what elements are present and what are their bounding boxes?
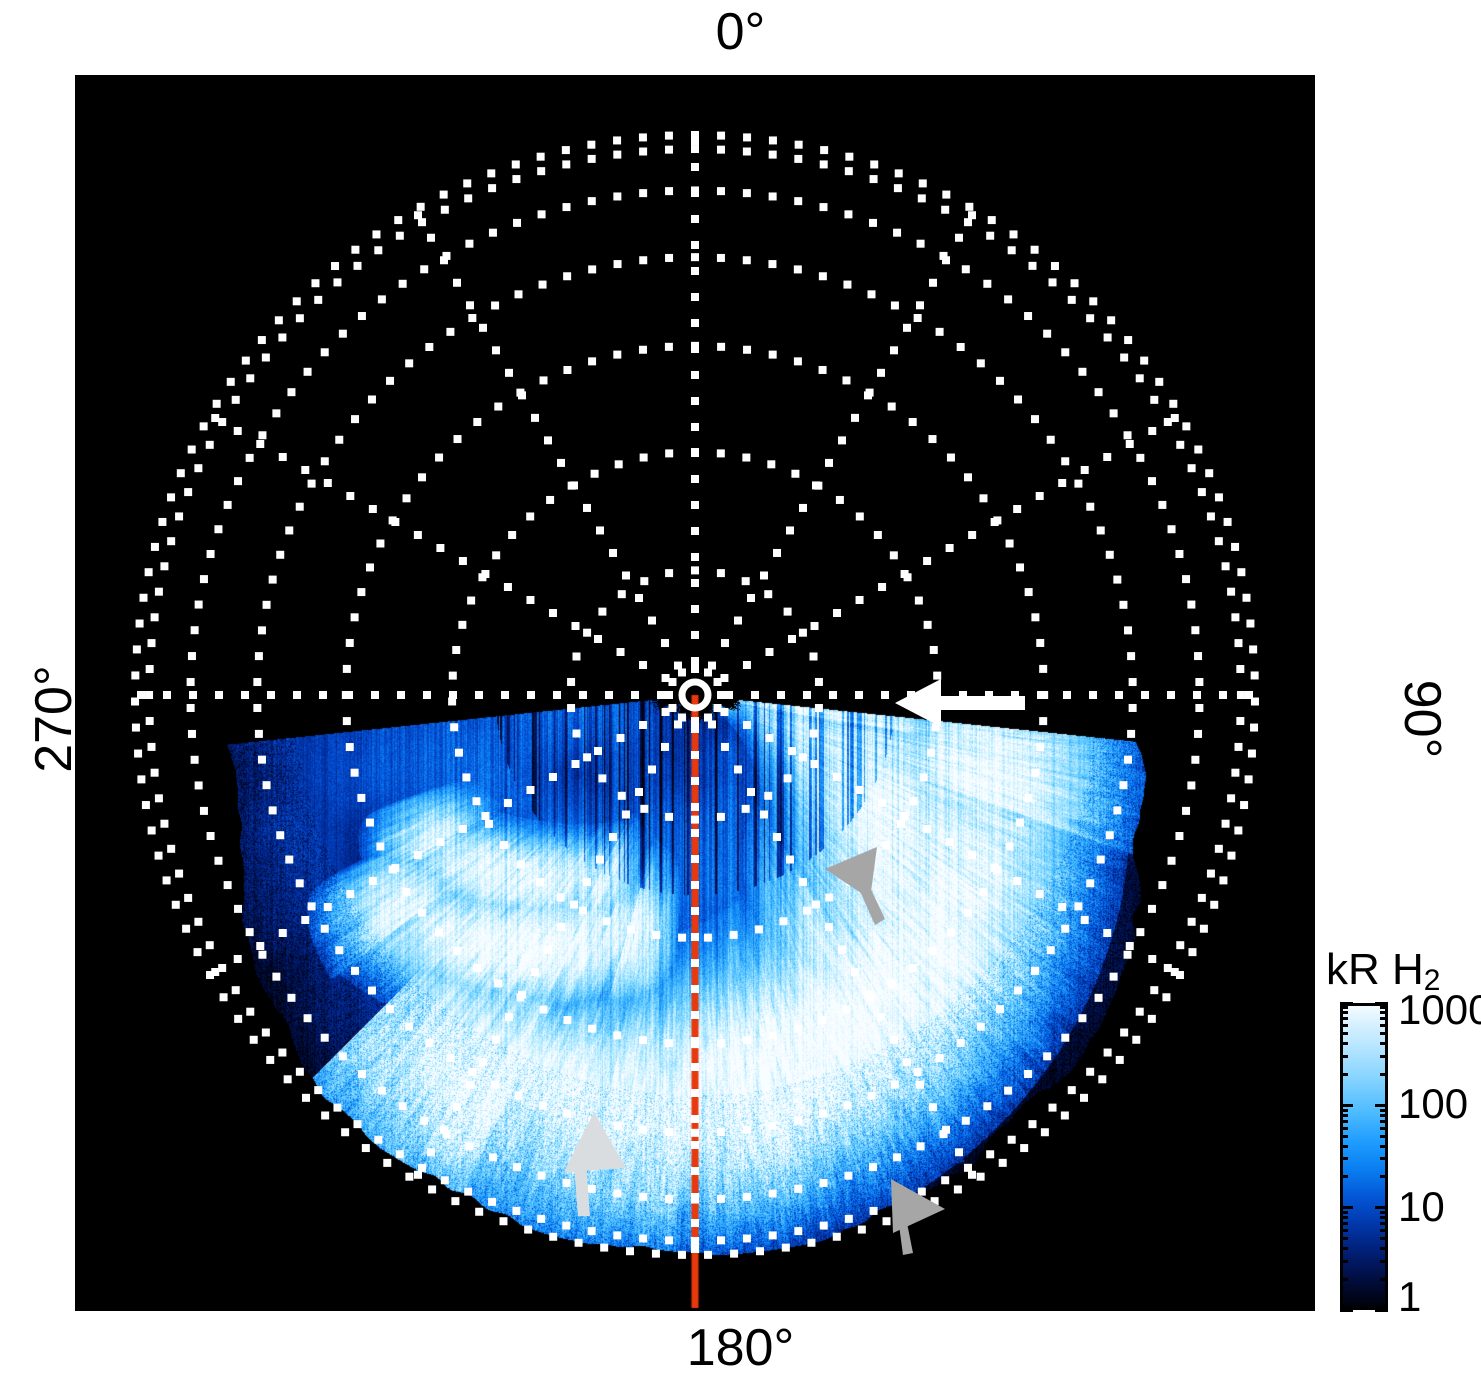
grid-dot <box>819 1110 827 1118</box>
grid-dot <box>188 446 196 454</box>
grid-dot <box>526 786 534 794</box>
grid-dot <box>544 946 552 954</box>
grid-dot <box>799 504 807 512</box>
grid-dot <box>639 1036 647 1044</box>
grid-dot <box>466 301 474 309</box>
grid-dot <box>468 314 476 322</box>
grid-dot <box>275 316 283 324</box>
grid-dot <box>391 864 399 872</box>
axis-label-0: 0° <box>0 6 1481 58</box>
grid-dot <box>366 819 374 827</box>
colorbar-minor-tick <box>1340 1127 1348 1130</box>
grid-dot <box>1031 769 1039 777</box>
grid-dot <box>964 473 972 481</box>
grid-dot <box>446 1054 454 1062</box>
grid-dot <box>311 279 319 287</box>
grid-dot <box>1074 480 1082 488</box>
grid-dot <box>1016 819 1024 827</box>
grid-dot <box>308 480 316 488</box>
grid-dot <box>505 1013 513 1021</box>
grid-dot <box>704 668 712 676</box>
grid-dot <box>1198 894 1206 902</box>
grid-dot <box>665 1128 673 1136</box>
grid-dot <box>890 1036 898 1044</box>
grid-dot <box>1037 691 1045 699</box>
grid-dot <box>187 704 195 712</box>
grid-dot <box>803 907 811 915</box>
grid-dot <box>1115 691 1123 699</box>
grid-dot <box>983 1102 991 1110</box>
grid-dot <box>453 1103 461 1111</box>
grid-dot <box>489 229 497 237</box>
grid-dot <box>296 503 304 511</box>
grid-dot <box>1251 671 1259 679</box>
grid-dot <box>1008 1136 1016 1144</box>
grid-dot <box>769 151 777 159</box>
grid-dot <box>946 838 954 846</box>
grid-dot <box>588 155 596 163</box>
grid-dot <box>1086 879 1094 887</box>
grid-dot <box>425 1039 433 1047</box>
grid-dot <box>227 378 235 386</box>
grid-dot <box>1025 794 1033 802</box>
grid-dot <box>488 1198 496 1206</box>
grid-dot <box>598 608 606 616</box>
grid-dot <box>691 1237 699 1245</box>
grid-dot <box>851 414 859 422</box>
grid-dot <box>1187 601 1195 609</box>
grid-dot <box>428 1185 436 1193</box>
grid-dot <box>665 813 673 821</box>
grid-dot <box>1119 601 1127 609</box>
grid-dot <box>1136 1008 1144 1016</box>
grid-dot <box>591 470 599 478</box>
grid-dot <box>172 901 180 909</box>
grid-dot <box>343 665 351 673</box>
grid-dot <box>351 415 359 423</box>
grid-dot <box>996 377 1004 385</box>
grid-dot <box>218 964 226 972</box>
grid-dot <box>631 691 639 699</box>
grid-dot <box>571 760 579 768</box>
colorbar-minor-tick <box>1340 1247 1348 1250</box>
grid-dot <box>665 1039 673 1047</box>
grid-dot <box>399 1102 407 1110</box>
grid-dot <box>137 775 145 783</box>
grid-dot <box>691 345 699 353</box>
grid-dot <box>691 855 699 863</box>
grid-dot <box>374 1136 382 1144</box>
grid-dot <box>557 923 565 931</box>
arc-marker-lower-left <box>558 1110 630 1220</box>
grid-dot <box>635 788 643 796</box>
grid-dot <box>1089 297 1097 305</box>
grid-dot <box>1182 575 1190 583</box>
grid-dot <box>366 563 374 571</box>
grid-dot <box>598 774 606 782</box>
grid-dot <box>515 1092 523 1100</box>
grid-dot <box>1194 730 1202 738</box>
grid-dot <box>856 786 864 794</box>
grid-dot <box>1168 857 1176 865</box>
grid-dot <box>691 1129 699 1137</box>
grid-dot <box>977 1173 985 1181</box>
grid-dot <box>263 781 271 789</box>
grid-dot <box>1207 870 1215 878</box>
grid-dot <box>296 1068 304 1076</box>
grid-dot <box>613 136 621 144</box>
grid-dot <box>321 925 329 933</box>
grid-dot <box>440 191 448 199</box>
grid-dot <box>512 160 520 168</box>
grid-dot <box>812 901 820 909</box>
axis-label-270: 270° <box>28 639 80 799</box>
grid-dot <box>603 917 611 925</box>
grid-dot <box>1124 431 1132 439</box>
grid-dot <box>657 691 665 699</box>
grid-dot <box>1068 1086 1076 1094</box>
colorbar-minor-tick <box>1340 1055 1348 1058</box>
grid-dot <box>175 870 183 878</box>
grid-dot <box>962 265 970 273</box>
grid-dot <box>182 925 190 933</box>
grid-dot <box>1191 756 1199 764</box>
grid-dot <box>489 1153 497 1161</box>
grid-dot <box>553 691 561 699</box>
colorbar-minor-tick <box>1340 1006 1348 1009</box>
grid-dot <box>491 1081 499 1089</box>
grid-dot <box>936 328 944 336</box>
grid-dot <box>494 403 502 411</box>
grid-dot <box>1175 550 1183 558</box>
grid-dot <box>1098 1075 1106 1083</box>
grid-dot <box>691 657 699 665</box>
grid-dot <box>279 929 287 937</box>
grid-dot <box>250 1036 258 1044</box>
grid-dot <box>213 400 221 408</box>
grid-dot <box>1127 652 1135 660</box>
grid-dot <box>743 1126 751 1134</box>
grid-dot <box>1113 806 1121 814</box>
grid-dot <box>691 1141 699 1149</box>
grid-dot <box>187 678 195 686</box>
grid-dot <box>262 354 270 362</box>
grid-dot <box>195 781 203 789</box>
grid-dot <box>1136 374 1144 382</box>
grid-dot <box>140 594 148 602</box>
grid-dot <box>539 1101 547 1109</box>
grid-dot <box>786 856 794 864</box>
grid-dot <box>544 436 552 444</box>
grid-dot <box>475 691 483 699</box>
grid-dot <box>1106 831 1114 839</box>
grid-dot <box>1068 296 1076 304</box>
grid-dot <box>1191 626 1199 634</box>
grid-dot <box>742 577 750 585</box>
grid-dot <box>151 613 159 621</box>
grid-dot <box>142 801 150 809</box>
grid-dot <box>881 691 889 699</box>
colorbar-minor-tick <box>1380 1120 1388 1123</box>
grid-dot <box>639 346 647 354</box>
grid-dot <box>321 457 329 465</box>
grid-dot <box>468 1068 476 1076</box>
grid-dot <box>538 210 546 218</box>
colorbar-minor-tick <box>1380 1175 1388 1178</box>
grid-dot <box>799 629 807 637</box>
grid-dot <box>691 803 699 811</box>
grid-dot <box>362 1144 370 1152</box>
grid-dot <box>769 1231 777 1239</box>
grid-dot <box>1194 652 1202 660</box>
grid-dot <box>661 743 669 751</box>
grid-dot <box>1024 1070 1032 1078</box>
colorbar-minor-tick <box>1380 1157 1388 1160</box>
colorbar-minor-tick <box>1340 1216 1348 1219</box>
grid-dot <box>794 1117 802 1125</box>
grid-dot <box>266 1056 274 1064</box>
grid-dot <box>562 146 570 154</box>
grid-dot <box>691 163 699 171</box>
grid-dot <box>526 596 534 604</box>
grid-dot <box>1234 743 1242 751</box>
grid-dot <box>878 583 886 591</box>
grid-dot <box>594 747 602 755</box>
grid-dot <box>246 928 254 936</box>
grid-dot <box>1120 354 1128 362</box>
grid-dot <box>1167 691 1175 699</box>
grid-dot <box>420 1117 428 1125</box>
grid-dot <box>1104 1049 1112 1057</box>
grid-dot <box>453 279 461 287</box>
grid-dot <box>1127 730 1135 738</box>
grid-dot <box>704 714 712 722</box>
colorbar-major-tick <box>1375 1309 1388 1312</box>
grid-dot <box>1028 1120 1036 1128</box>
grid-dot <box>844 1172 852 1180</box>
grid-dot <box>163 876 171 884</box>
grid-dot <box>272 409 280 417</box>
grid-dot <box>234 905 242 913</box>
colorbar-minor-tick <box>1340 1278 1348 1281</box>
grid-dot <box>691 907 699 915</box>
grid-dot <box>858 1226 866 1234</box>
grid-dot <box>1124 336 1132 344</box>
grid-dot <box>1103 929 1111 937</box>
grid-dot <box>1095 388 1103 396</box>
grid-dot <box>1086 503 1094 511</box>
grid-dot <box>1006 540 1014 548</box>
grid-dot <box>1158 881 1166 889</box>
grid-dot <box>536 878 544 886</box>
grid-dot <box>815 678 823 686</box>
colorbar-minor-tick <box>1340 1260 1348 1263</box>
grid-dot <box>588 1227 596 1235</box>
grid-dot <box>784 774 792 782</box>
grid-dot <box>319 691 327 699</box>
grid-dot <box>1129 678 1137 686</box>
grid-dot <box>1237 691 1245 699</box>
grid-dot <box>1249 645 1257 653</box>
grid-dot <box>691 1089 699 1097</box>
grid-dot <box>691 137 699 145</box>
grid-dot <box>868 1092 876 1100</box>
grid-dot <box>910 797 918 805</box>
grid-dot <box>1004 1087 1012 1095</box>
grid-dot <box>214 857 222 865</box>
colorbar-major-tick <box>1340 1206 1353 1209</box>
grid-dot <box>665 569 673 577</box>
grid-dot <box>1036 639 1044 647</box>
grid-dot <box>513 1163 521 1171</box>
grid-dot <box>869 219 877 227</box>
grid-dot <box>242 357 250 365</box>
colorbar-minor-tick <box>1380 1114 1388 1117</box>
grid-dot <box>768 260 776 268</box>
grid-dot <box>383 1159 391 1167</box>
grid-dot <box>255 730 263 738</box>
grid-dot <box>868 290 876 298</box>
grid-dot <box>977 359 985 367</box>
grid-dot <box>1215 537 1223 545</box>
grid-dot <box>596 856 604 864</box>
colorbar-tick-label: 100 <box>1398 1083 1468 1125</box>
grid-dot <box>1081 466 1089 474</box>
colorbar-minor-tick <box>1340 1135 1348 1138</box>
grid-dot <box>1063 691 1071 699</box>
grid-dot <box>333 1104 341 1112</box>
grid-dot <box>1195 704 1203 712</box>
grid-dot <box>206 941 214 949</box>
grid-dot <box>441 206 449 214</box>
grid-dot <box>184 894 192 902</box>
grid-dot <box>819 272 827 280</box>
grid-dot <box>575 1239 583 1247</box>
grid-dot <box>942 1126 950 1134</box>
grid-dot <box>877 1013 885 1021</box>
grid-dot <box>1031 415 1039 423</box>
grid-dot <box>423 691 431 699</box>
grid-dot <box>1120 1028 1128 1036</box>
grid-dot <box>665 1195 673 1203</box>
grid-dot <box>639 1193 647 1201</box>
grid-dot <box>418 473 426 481</box>
grid-dot <box>546 496 554 504</box>
grid-dot <box>962 1117 970 1125</box>
grid-dot <box>596 526 604 534</box>
grid-dot <box>563 272 571 280</box>
colorbar: kR H2 1000100101 <box>1326 948 1481 1328</box>
grid-dot <box>851 968 859 976</box>
grid-dot <box>930 646 938 654</box>
grid-dot <box>615 460 623 468</box>
grid-dot <box>351 769 359 777</box>
grid-dot <box>540 1006 548 1014</box>
grid-dot <box>1095 994 1103 1002</box>
grid-dot <box>1061 1034 1069 1042</box>
grid-dot <box>256 942 264 950</box>
grid-dot <box>357 794 365 802</box>
grid-dot <box>549 1233 557 1241</box>
grid-dot <box>691 1115 699 1123</box>
grid-dot <box>449 691 457 699</box>
colorbar-minor-tick <box>1340 1042 1348 1045</box>
colorbar-minor-tick <box>1380 1278 1388 1281</box>
grid-dot <box>815 704 823 712</box>
grid-dot <box>977 1023 985 1031</box>
grid-dot <box>743 133 751 141</box>
grid-dot <box>494 979 502 987</box>
grid-dot <box>639 1234 647 1242</box>
grid-dot <box>720 708 728 716</box>
grid-dot <box>562 1222 570 1230</box>
grid-dot <box>662 674 670 682</box>
grid-dot <box>639 721 647 729</box>
grid-dot <box>269 806 277 814</box>
grid-dot <box>870 175 878 183</box>
grid-dot <box>1061 1111 1069 1119</box>
grid-dot <box>459 557 467 565</box>
grid-dot <box>258 336 266 344</box>
grid-dot <box>1086 314 1094 322</box>
grid-dot <box>1168 525 1176 533</box>
grid-dot <box>567 678 575 686</box>
colorbar-major-tick <box>1340 1104 1353 1107</box>
grid-dot <box>200 807 208 815</box>
grid-dot <box>539 281 547 289</box>
grid-dot <box>691 717 699 725</box>
grid-dot <box>1207 512 1215 520</box>
grid-dot <box>1024 312 1032 320</box>
grid-dot <box>734 765 742 773</box>
grid-dot <box>454 947 462 955</box>
grid-dot <box>979 888 987 896</box>
grid-dot <box>278 1049 286 1057</box>
grid-dot <box>435 454 443 462</box>
grid-dot <box>820 1222 828 1230</box>
grid-dot <box>665 691 673 699</box>
grid-dot <box>730 931 738 939</box>
grid-dot <box>639 133 647 141</box>
grid-dot <box>947 928 955 936</box>
grid-dot <box>691 267 699 275</box>
grid-dot <box>1141 691 1149 699</box>
grid-dot <box>751 691 759 699</box>
grid-dot <box>304 1014 312 1022</box>
grid-dot <box>272 973 280 981</box>
grid-dot <box>691 1037 699 1045</box>
grid-dot <box>450 723 458 731</box>
grid-dot <box>691 829 699 837</box>
grid-dot <box>691 527 699 535</box>
grid-dot <box>1124 756 1132 764</box>
grid-dot <box>479 324 487 332</box>
grid-dot <box>691 449 699 457</box>
grid-dot <box>915 597 923 605</box>
grid-dot <box>194 464 202 472</box>
grid-dot <box>504 799 512 807</box>
grid-dot <box>833 773 841 781</box>
grid-dot <box>795 141 803 149</box>
grid-dot <box>665 146 673 154</box>
grid-dot <box>609 549 617 557</box>
arc-marker-upper <box>823 841 901 931</box>
grid-dot <box>258 756 266 764</box>
grid-dot <box>224 881 232 889</box>
grid-dot <box>339 1052 347 1060</box>
grid-dot <box>200 422 208 430</box>
grid-dot <box>730 1250 738 1258</box>
